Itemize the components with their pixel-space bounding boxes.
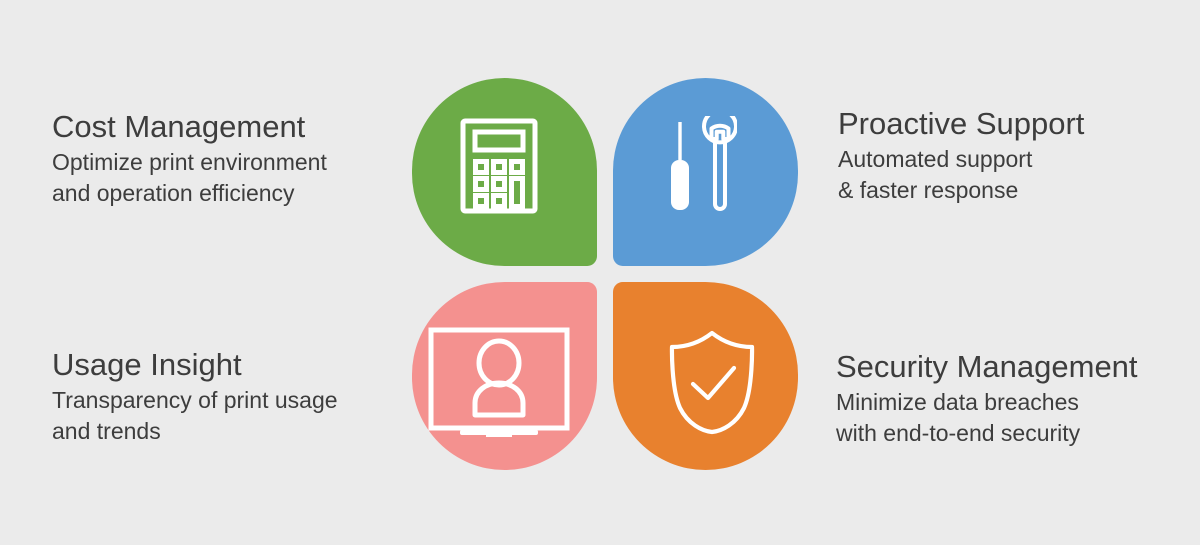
petal-proactive-support[interactable] <box>613 78 798 266</box>
label-usage-insight: Usage Insight Transparency of print usag… <box>52 348 338 446</box>
proactive-support-description-line-2: & faster response <box>838 175 1084 205</box>
usage-insight-description-line-1: Transparency of print usage <box>52 385 338 415</box>
calculator-icon <box>406 72 591 260</box>
screwdriver-wrench-icon <box>607 72 792 260</box>
infographic-canvas: Cost Management Optimize print environme… <box>0 0 1200 545</box>
petal-cluster <box>412 78 798 458</box>
usage-insight-description-line-2: and trends <box>52 416 338 446</box>
cost-management-description-line-2: and operation efficiency <box>52 178 327 208</box>
label-proactive-support: Proactive Support Automated support & fa… <box>838 107 1084 205</box>
cost-management-description: Optimize print environment and operation… <box>52 147 327 208</box>
proactive-support-title: Proactive Support <box>838 107 1084 140</box>
security-management-description-line-1: Minimize data breaches <box>836 387 1138 417</box>
proactive-support-description: Automated support & faster response <box>838 144 1084 205</box>
cost-management-description-line-1: Optimize print environment <box>52 147 327 177</box>
security-management-description: Minimize data breaches with end-to-end s… <box>836 387 1138 448</box>
label-security-management: Security Management Minimize data breach… <box>836 350 1138 448</box>
usage-insight-description: Transparency of print usage and trends <box>52 385 338 446</box>
security-management-title: Security Management <box>836 350 1138 383</box>
usage-insight-title: Usage Insight <box>52 348 338 381</box>
shield-check-icon <box>619 288 804 476</box>
cost-management-title: Cost Management <box>52 110 327 143</box>
petal-cost-management[interactable] <box>412 78 597 266</box>
security-management-description-line-2: with end-to-end security <box>836 418 1138 448</box>
petal-usage-insight[interactable] <box>412 282 597 470</box>
label-cost-management: Cost Management Optimize print environme… <box>52 110 327 208</box>
monitor-user-icon <box>406 288 591 476</box>
petal-security-management[interactable] <box>613 282 798 470</box>
proactive-support-description-line-1: Automated support <box>838 144 1084 174</box>
